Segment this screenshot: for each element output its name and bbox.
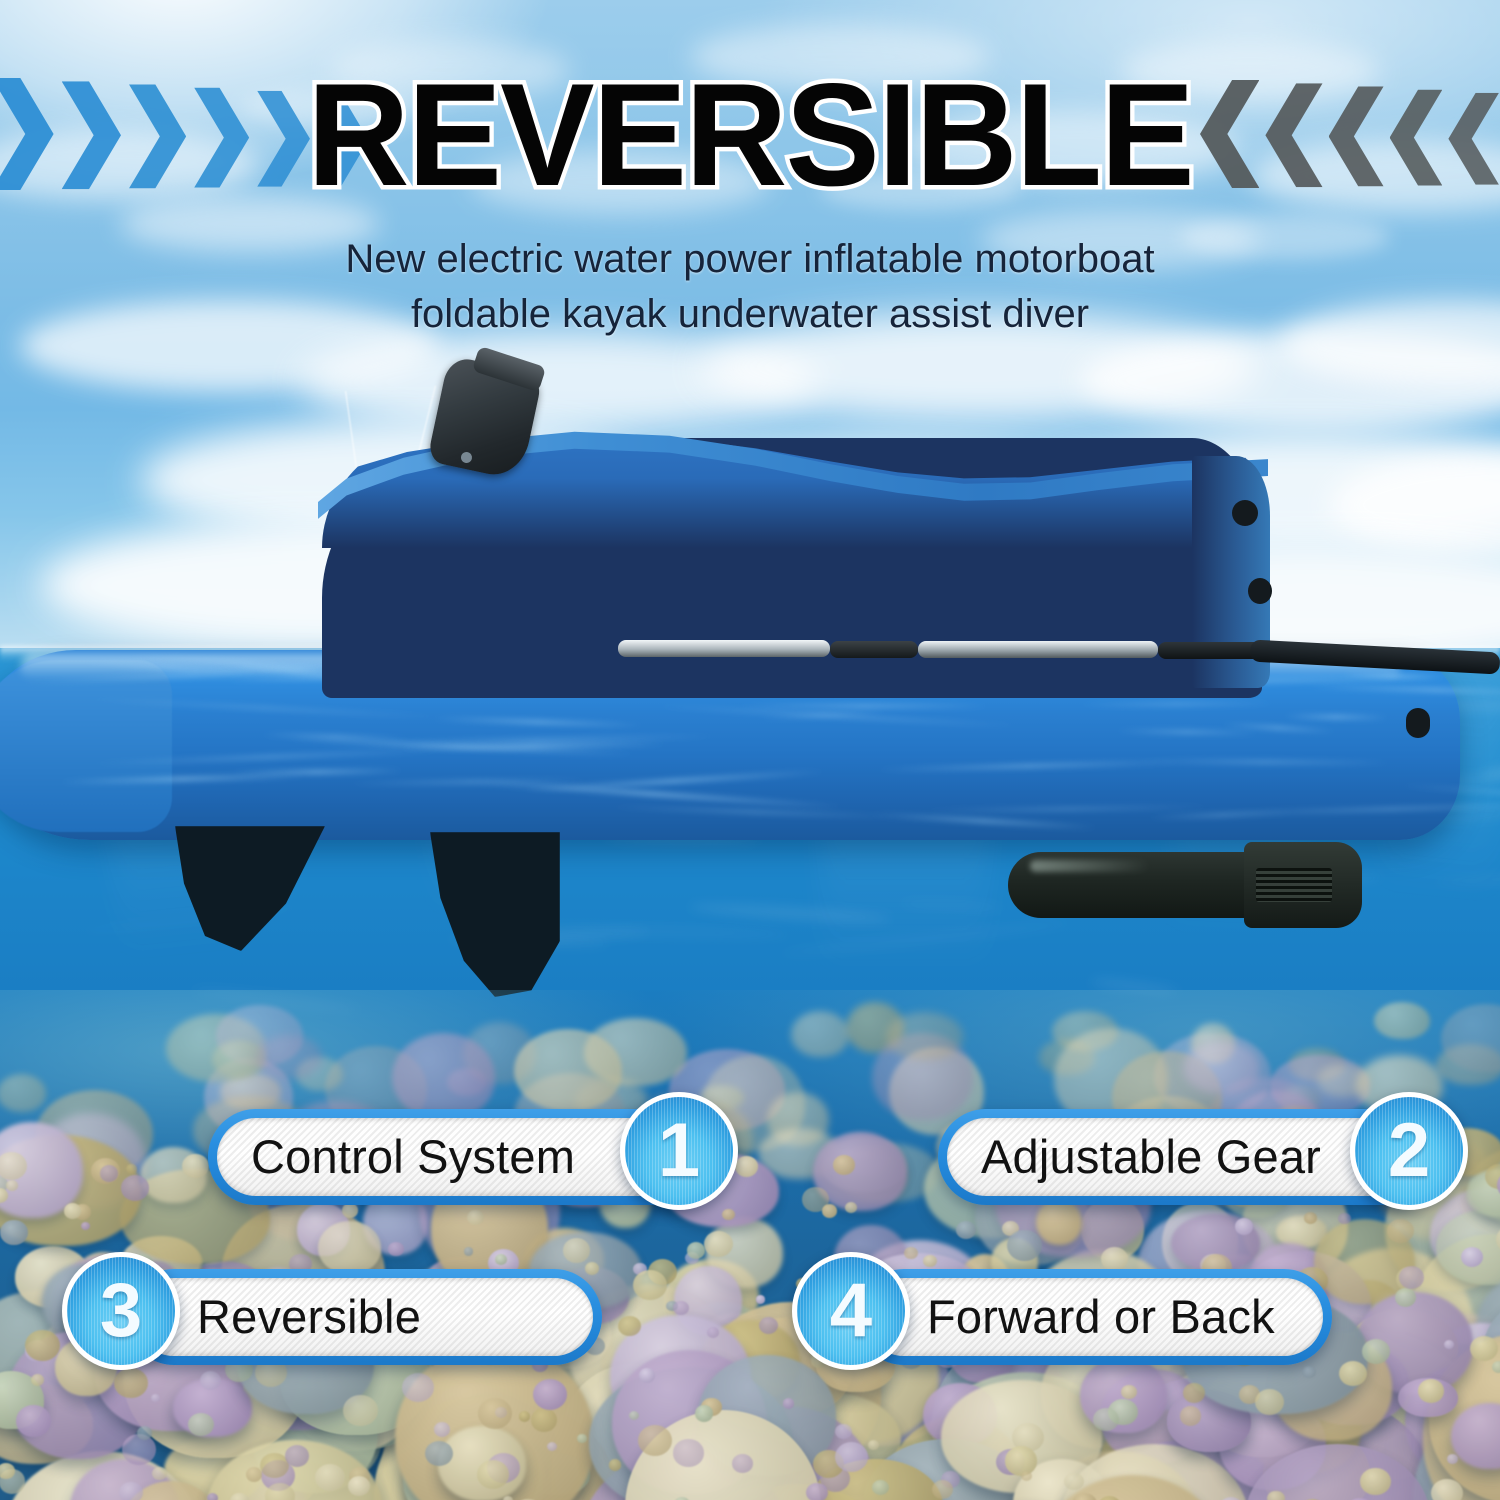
- coral-far: [256, 1035, 322, 1080]
- feature-number: 1: [658, 1113, 700, 1189]
- coral-polyp: [833, 1155, 855, 1174]
- feature-number: 3: [100, 1273, 142, 1349]
- coral-polyp: [1431, 1479, 1462, 1500]
- coral-polyp: [783, 1398, 795, 1408]
- hull-wave-line: [1078, 700, 1276, 707]
- feature-pill: Reversible: [126, 1269, 602, 1365]
- coral-polyp: [64, 1203, 81, 1218]
- seat-knob-upper: [1232, 500, 1258, 526]
- feature-number-badge-4[interactable]: 4: [792, 1252, 910, 1370]
- hull-wave-line: [738, 703, 990, 709]
- coral-polyp: [1064, 1473, 1083, 1491]
- coral-polyp: [0, 1463, 15, 1479]
- coral-polyp: [519, 1411, 530, 1421]
- motor-vent-grille-icon: [1256, 868, 1332, 902]
- coral-polyp: [722, 1209, 734, 1220]
- coral-reef-background: [0, 990, 1500, 1500]
- coral-polyp: [137, 1426, 153, 1440]
- coral-polyp: [1447, 1454, 1458, 1464]
- coral-polyp: [152, 1467, 166, 1480]
- seat-knob-lower: [1248, 578, 1272, 604]
- rear-skeg-fin: [430, 832, 560, 997]
- subtitle-line-1: New electric water power inflatable moto…: [0, 232, 1500, 287]
- feature-pill-inner: Reversible: [135, 1278, 593, 1356]
- feature-pill: Forward or Back: [856, 1269, 1332, 1365]
- feature-label: Forward or Back: [927, 1289, 1275, 1344]
- coral-polyp: [806, 1483, 827, 1500]
- coral-polyp: [246, 1467, 262, 1482]
- feature-badge-3[interactable]: Reversible3: [62, 1252, 602, 1370]
- coral-polyp: [577, 1434, 586, 1442]
- coral-polyp: [1362, 1339, 1390, 1364]
- coral-polyp: [31, 1374, 44, 1386]
- feature-number: 4: [830, 1273, 872, 1349]
- coral-polyp: [638, 1425, 673, 1456]
- coral-far: [791, 1011, 849, 1057]
- coral-polyp: [1470, 1336, 1498, 1361]
- coral-polyp: [732, 1454, 752, 1472]
- coral-polyp: [1304, 1212, 1317, 1224]
- coral-polyp: [188, 1413, 213, 1436]
- coral-polyp: [1183, 1383, 1205, 1403]
- feature-label: Control System: [251, 1129, 575, 1184]
- coral-polyp: [25, 1330, 59, 1361]
- coral-polyp: [756, 1295, 765, 1303]
- feature-number: 2: [1388, 1113, 1430, 1189]
- coral-polyp: [1235, 1218, 1253, 1235]
- coral-polyp: [477, 1460, 509, 1489]
- hull-wave-line: [1284, 713, 1388, 720]
- page-subtitle: New electric water power inflatable moto…: [0, 232, 1500, 342]
- coral-far: [0, 1074, 46, 1112]
- feature-badge-2[interactable]: Adjustable Gear2: [938, 1092, 1478, 1210]
- coral-polyp: [759, 1317, 778, 1334]
- product-photo: [0, 360, 1500, 1020]
- coral-polyp: [1418, 1379, 1444, 1403]
- coral-far: [886, 1012, 963, 1060]
- coral-polyp: [673, 1439, 703, 1466]
- coral-polyp: [119, 1482, 143, 1500]
- coral-far: [1374, 1002, 1429, 1039]
- coral-polyp: [1360, 1468, 1390, 1495]
- coral-polyp: [932, 1480, 953, 1499]
- coral-polyp: [547, 1442, 557, 1451]
- coral-polyp: [207, 1493, 218, 1500]
- feature-number-badge-2[interactable]: 2: [1350, 1092, 1468, 1210]
- coral-polyp: [1005, 1446, 1038, 1475]
- feature-number-badge-3[interactable]: 3: [62, 1252, 180, 1370]
- motor-highlight: [1030, 860, 1150, 872]
- coral-polyp: [1255, 1389, 1284, 1415]
- hull-knob-right: [1406, 708, 1430, 738]
- deck-rail-segment-2: [830, 641, 918, 658]
- coral-polyp: [1461, 1247, 1483, 1267]
- coral-polyp: [285, 1445, 309, 1467]
- coral-polyp: [434, 1422, 450, 1436]
- feature-label: Reversible: [197, 1289, 421, 1344]
- coral-polyp: [343, 1395, 377, 1426]
- coral-polyp: [1399, 1266, 1424, 1289]
- coral-polyp: [0, 1152, 27, 1180]
- coral-polyp: [122, 1434, 156, 1465]
- coral-polyp: [687, 1242, 705, 1258]
- coral-polyp: [1267, 1491, 1285, 1500]
- coral-polyp: [1492, 1361, 1500, 1373]
- underwater-thruster-motor: [1008, 840, 1358, 930]
- coral-polyp: [16, 1405, 51, 1436]
- product-marketing-image: REVERSIBLE New electric water power infl…: [0, 0, 1500, 1500]
- feature-number-badge-1[interactable]: 1: [620, 1092, 738, 1210]
- feature-label: Adjustable Gear: [981, 1129, 1321, 1184]
- coral-polyp: [126, 1164, 137, 1174]
- coral-polyp: [114, 1368, 148, 1398]
- coral-far: [1183, 1041, 1260, 1094]
- front-skeg-fin: [175, 826, 325, 951]
- coral-polyp: [639, 1368, 655, 1383]
- coral-polyp: [81, 1222, 90, 1230]
- coral-polyp: [868, 1440, 879, 1450]
- coral-polyp: [633, 1270, 667, 1300]
- coral-polyp: [618, 1316, 641, 1337]
- coral-polyp: [1180, 1406, 1201, 1425]
- deck-rail-segment-1: [618, 640, 830, 657]
- coral-polyp: [6, 1180, 18, 1191]
- feature-badge-1[interactable]: Control System1: [208, 1092, 748, 1210]
- coral-polyp: [503, 1496, 513, 1500]
- subtitle-line-2: foldable kayak underwater assist diver: [0, 287, 1500, 342]
- page-title: REVERSIBLE: [23, 62, 1478, 208]
- coral-polyp: [478, 1398, 512, 1429]
- coral-polyp: [673, 1301, 689, 1315]
- coral-polyp: [467, 1210, 484, 1225]
- deck-rail-segment-3: [918, 641, 1158, 658]
- feature-pill-inner: Forward or Back: [865, 1278, 1323, 1356]
- coral-polyp: [0, 1220, 27, 1245]
- feature-badge-4[interactable]: Forward or Back4: [792, 1252, 1332, 1370]
- coral-polyp: [100, 1165, 118, 1181]
